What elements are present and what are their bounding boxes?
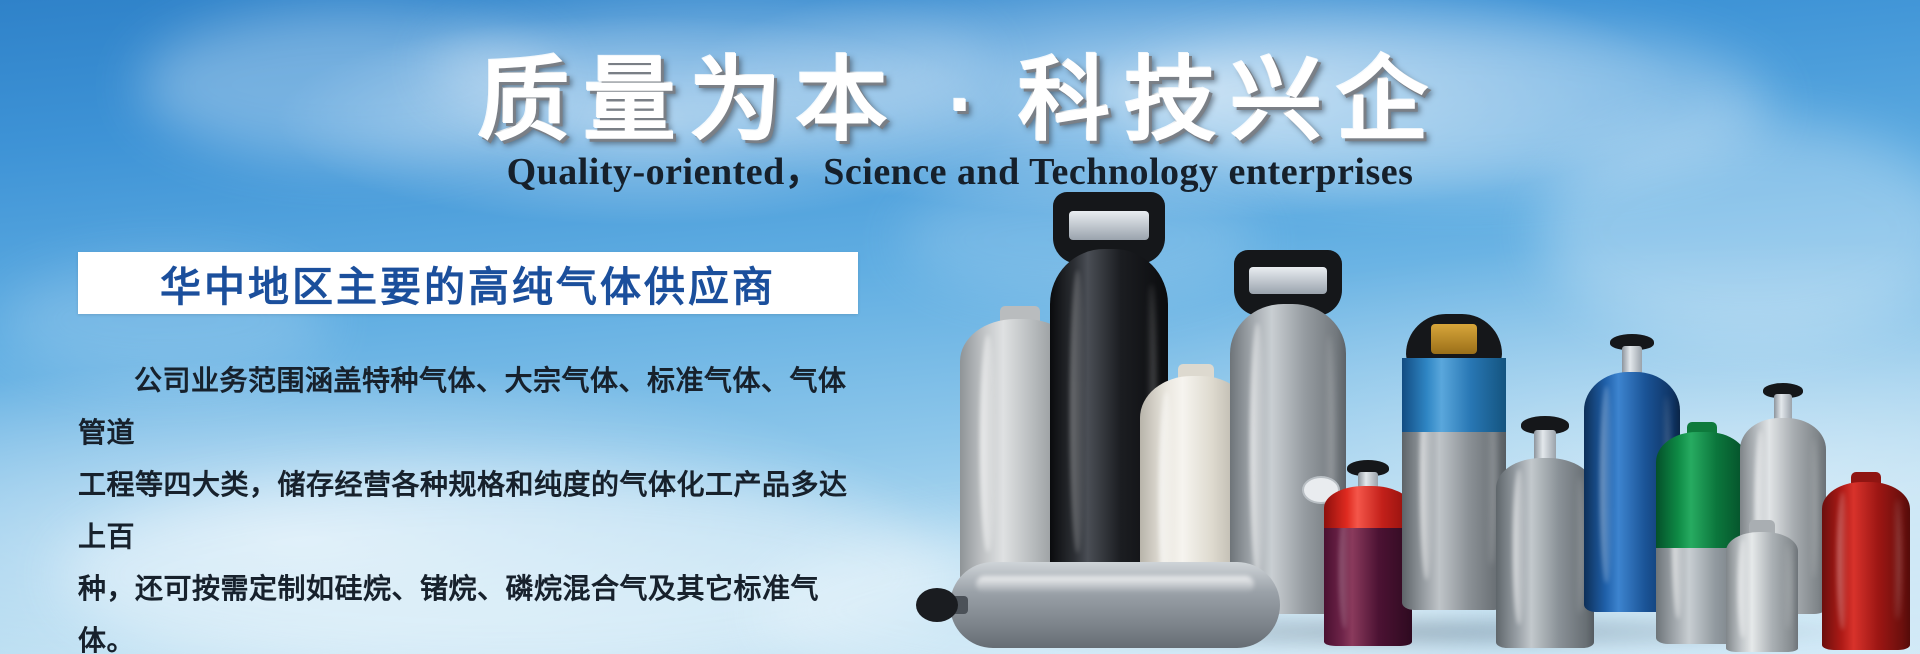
- description-line-1: 公司业务范围涵盖特种气体、大宗气体、标准气体、气体管道: [78, 355, 868, 459]
- description-paragraph: 公司业务范围涵盖特种气体、大宗气体、标准气体、气体管道 工程等四大类，储存经营各…: [78, 355, 868, 654]
- headline-left: 质量为本: [478, 47, 902, 154]
- cylinder-blue-band: [1402, 358, 1506, 432]
- slogan-box: 华中地区主要的高纯气体供应商: [78, 252, 858, 314]
- cylinder-valve-brass: [1431, 324, 1477, 354]
- promotional-banner: 质量为本 · 科技兴企 Quality-oriented，Science and…: [0, 0, 1920, 654]
- cylinder-valve-knob: [916, 588, 958, 622]
- cylinder-red-purple: [1324, 441, 1412, 646]
- gas-cylinder-photo-group: [940, 0, 1920, 654]
- slogan-text: 华中地区主要的高纯气体供应商: [160, 253, 776, 313]
- cylinder-lying-grey: [950, 562, 1280, 648]
- description-line-3: 种，还可按需定制如硅烷、锗烷、磷烷混合气及其它标准气体。: [78, 563, 868, 654]
- cylinder-blue-grey-valve: [1402, 298, 1506, 610]
- cylinder-grey-mid: [1496, 398, 1594, 648]
- description-line-2: 工程等四大类，储存经营各种规格和纯度的气体化工产品多达上百: [78, 459, 868, 563]
- cylinder-red-short: [1822, 474, 1910, 650]
- cylinder-silver-small: [1726, 524, 1798, 652]
